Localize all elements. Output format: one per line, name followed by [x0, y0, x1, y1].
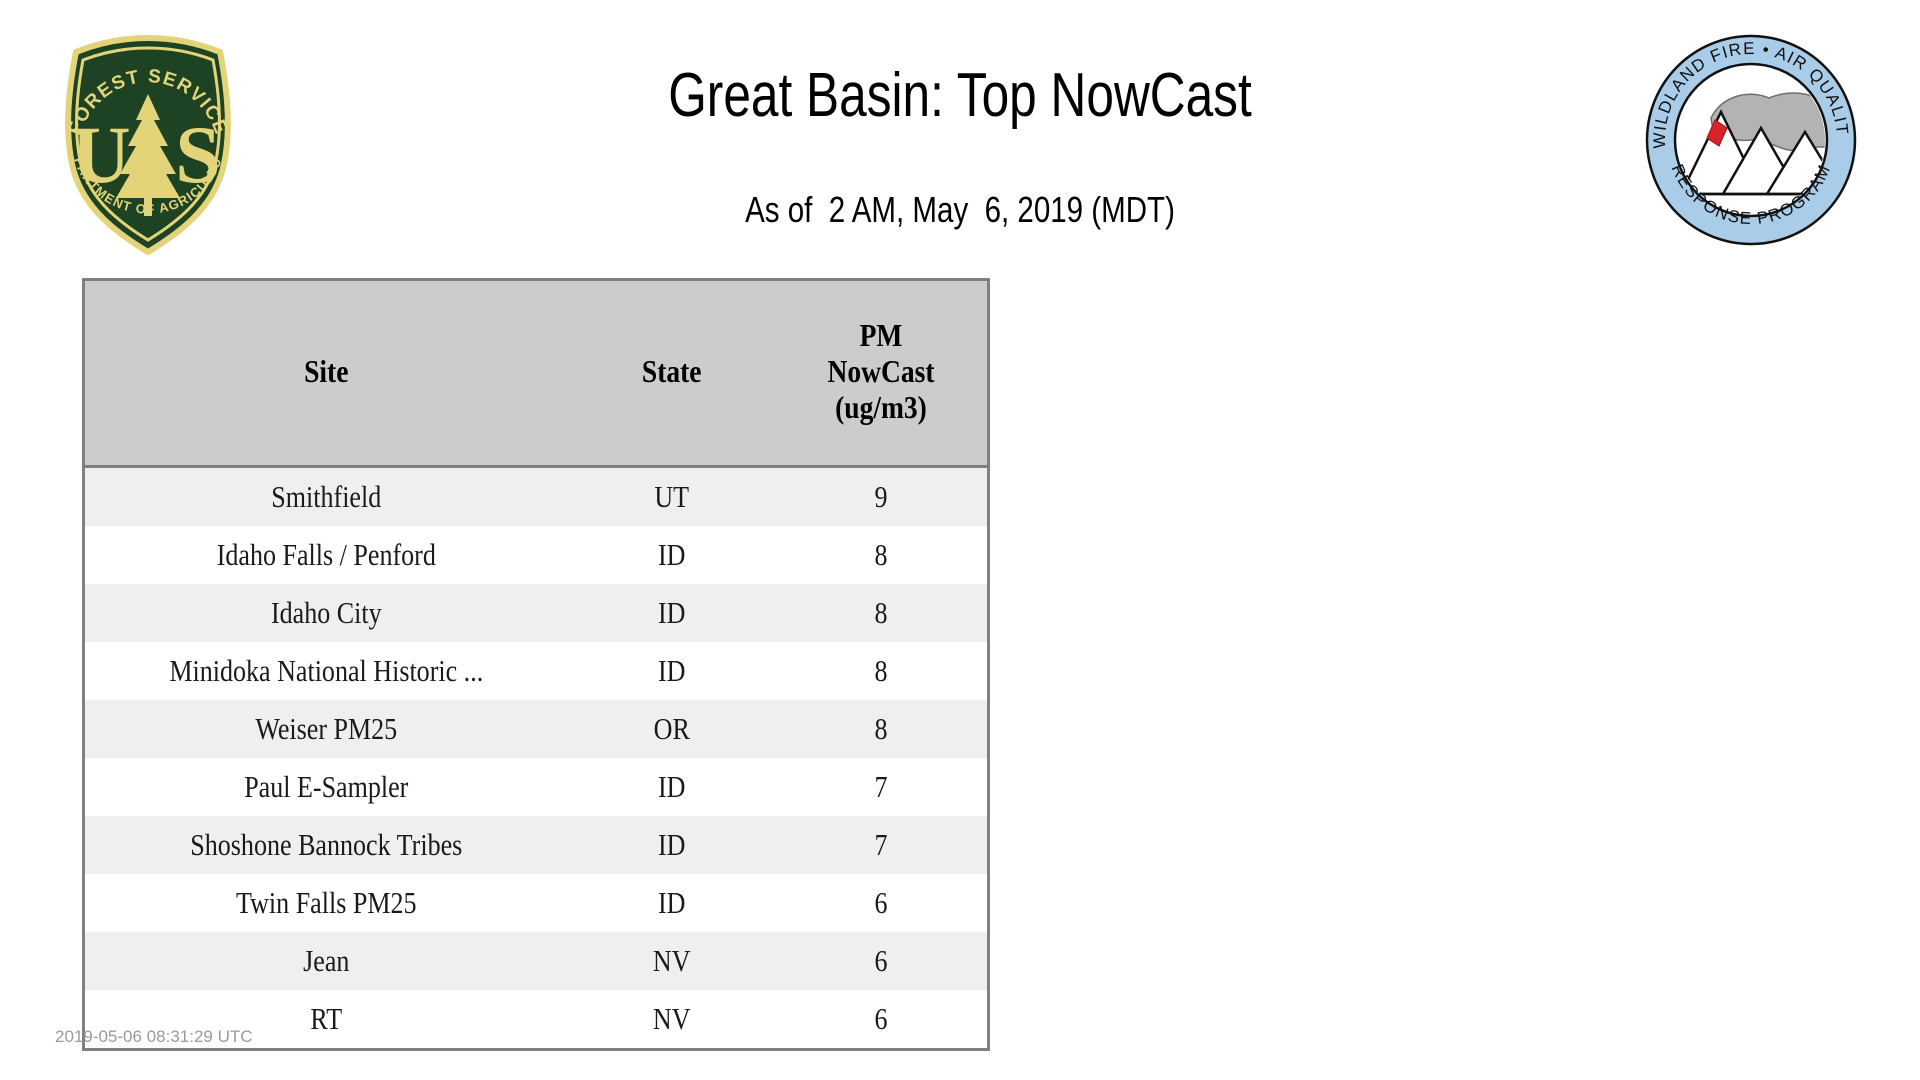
site-cell: Smithfield [85, 467, 568, 527]
state-cell-label: NV [584, 944, 758, 978]
site-cell-label: Minidoka National Historic ... [124, 654, 529, 688]
pm-nowcast-cell-label: 7 [792, 770, 970, 804]
state-cell: NV [568, 932, 775, 990]
table-row[interactable]: Minidoka National Historic ...ID8 [85, 642, 987, 700]
state-cell: ID [568, 758, 775, 816]
pm-nowcast-cell: 8 [775, 642, 987, 700]
state-cell-label: NV [584, 1002, 758, 1036]
pm-nowcast-cell: 6 [775, 874, 987, 932]
state-cell-label: ID [584, 654, 758, 688]
table-row[interactable]: Weiser PM25OR8 [85, 700, 987, 758]
pm-nowcast-cell: 7 [775, 816, 987, 874]
site-cell: Minidoka National Historic ... [85, 642, 568, 700]
pm-nowcast-cell-label: 9 [792, 480, 970, 514]
pm-nowcast-cell-label: 8 [792, 712, 970, 746]
pm-nowcast-cell-label: 8 [792, 654, 970, 688]
page-subtitle-timestamp: As of 2 AM, May 6, 2019 (MDT) [173, 188, 1747, 232]
pm-nowcast-cell: 8 [775, 526, 987, 584]
site-cell: Paul E-Sampler [85, 758, 568, 816]
pm-nowcast-cell-label: 8 [792, 538, 970, 572]
state-cell-label: ID [584, 770, 758, 804]
slide-canvas: FOREST SERVICE DEPARTMENT OF AGRICULTURE… [0, 0, 1920, 1080]
state-cell: ID [568, 526, 775, 584]
state-cell: ID [568, 816, 775, 874]
site-cell-label: Jean [124, 944, 529, 978]
table-row[interactable]: Idaho Falls / PenfordID8 [85, 526, 987, 584]
site-cell-label: Twin Falls PM25 [124, 886, 529, 920]
state-cell-label: ID [584, 596, 758, 630]
column-header-state-label: State [582, 353, 760, 389]
site-cell-label: Idaho Falls / Penford [124, 538, 529, 572]
state-cell: ID [568, 584, 775, 642]
site-cell: Shoshone Bannock Tribes [85, 816, 568, 874]
site-cell-label: Idaho City [124, 596, 529, 630]
state-cell-label: OR [584, 712, 758, 746]
column-header-state[interactable]: State [568, 281, 775, 467]
pm-nowcast-cell: 8 [775, 584, 987, 642]
site-cell-label: Shoshone Bannock Tribes [124, 828, 529, 862]
pm-nowcast-cell-label: 6 [792, 1002, 970, 1036]
table-row[interactable]: Idaho CityID8 [85, 584, 987, 642]
site-cell: Weiser PM25 [85, 700, 568, 758]
pm-nowcast-cell-label: 8 [792, 596, 970, 630]
site-cell: Idaho City [85, 584, 568, 642]
column-header-pm-nowcast-label: PM NowCast (ug/m3) [790, 317, 972, 425]
state-cell: ID [568, 874, 775, 932]
table-header-row: Site State PM NowCast (ug/m3) [85, 281, 987, 467]
state-cell: UT [568, 467, 775, 527]
state-cell-label: ID [584, 886, 758, 920]
column-header-site[interactable]: Site [85, 281, 568, 467]
page-title: Great Basin: Top NowCast [192, 60, 1728, 132]
wildland-fire-air-quality-response-program-logo: WILDLAND FIRE • AIR QUALITY RESPONSE PRO… [1643, 32, 1859, 248]
state-cell: NV [568, 990, 775, 1048]
state-cell-label: ID [584, 828, 758, 862]
pm-nowcast-cell: 6 [775, 990, 987, 1048]
table-row[interactable]: JeanNV6 [85, 932, 987, 990]
table-row[interactable]: Twin Falls PM25ID6 [85, 874, 987, 932]
site-cell: Twin Falls PM25 [85, 874, 568, 932]
state-cell: OR [568, 700, 775, 758]
table-row[interactable]: Shoshone Bannock TribesID7 [85, 816, 987, 874]
pm-nowcast-cell: 9 [775, 467, 987, 527]
state-cell-label: ID [584, 538, 758, 572]
state-cell: ID [568, 642, 775, 700]
site-cell-label: Smithfield [124, 480, 529, 514]
pm-nowcast-cell-label: 6 [792, 944, 970, 978]
table-row[interactable]: Paul E-SamplerID7 [85, 758, 987, 816]
render-timestamp: 2019-05-06 08:31:29 UTC [55, 1027, 253, 1047]
pm-nowcast-cell: 8 [775, 700, 987, 758]
state-cell-label: UT [584, 480, 758, 514]
site-cell: Idaho Falls / Penford [85, 526, 568, 584]
svg-text:U: U [71, 109, 130, 200]
pm-nowcast-cell-label: 7 [792, 828, 970, 862]
site-cell: Jean [85, 932, 568, 990]
column-header-pm-nowcast[interactable]: PM NowCast (ug/m3) [775, 281, 987, 467]
site-cell-label: Weiser PM25 [124, 712, 529, 746]
pm-nowcast-cell: 7 [775, 758, 987, 816]
pm-nowcast-cell: 6 [775, 932, 987, 990]
table-row[interactable]: SmithfieldUT9 [85, 467, 987, 527]
top-nowcast-table: Site State PM NowCast (ug/m3) Smithfield… [82, 278, 990, 1051]
pm-nowcast-cell-label: 6 [792, 886, 970, 920]
site-cell-label: Paul E-Sampler [124, 770, 529, 804]
column-header-site-label: Site [119, 353, 534, 389]
